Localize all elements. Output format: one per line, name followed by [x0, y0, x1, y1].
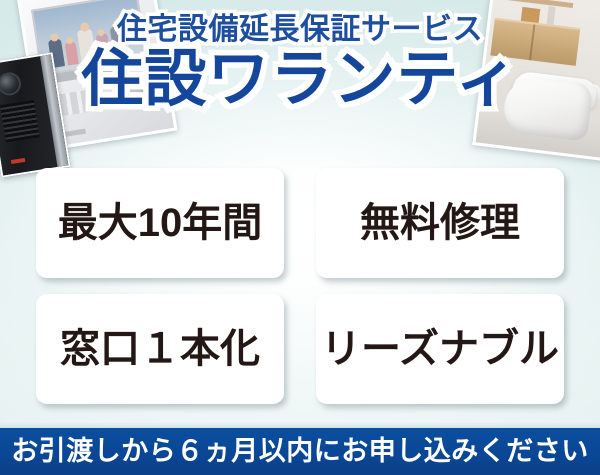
feature-box-grid: 最大10年間 無料修理 窓口１本化 リーズナブル	[36, 168, 564, 404]
footer-message: お引渡しから６ヵ月以内にお申し込みください	[11, 438, 589, 465]
feature-box-free-repair: 無料修理	[316, 168, 564, 278]
headline-block: 住宅設備延長保証サービス 住設ワランティ	[0, 14, 600, 111]
feature-label: 窓口１本化	[60, 329, 260, 369]
promo-banner: 住宅設備延長保証サービス 住設ワランティ 最大10年間 無料修理 窓口１本化 リ…	[0, 0, 600, 475]
feature-box-max-10-years: 最大10年間	[36, 168, 284, 278]
feature-box-reasonable: リーズナブル	[316, 294, 564, 404]
footer-bar: お引渡しから６ヵ月以内にお申し込みください	[0, 428, 600, 475]
banner-subtitle: 住宅設備延長保証サービス	[0, 14, 600, 46]
feature-box-single-contact: 窓口１本化	[36, 294, 284, 404]
feature-label: 無料修理	[360, 203, 520, 243]
banner-title: 住設ワランティ	[0, 48, 600, 111]
feature-label: 最大10年間	[58, 203, 263, 243]
feature-label: リーズナブル	[321, 329, 559, 369]
